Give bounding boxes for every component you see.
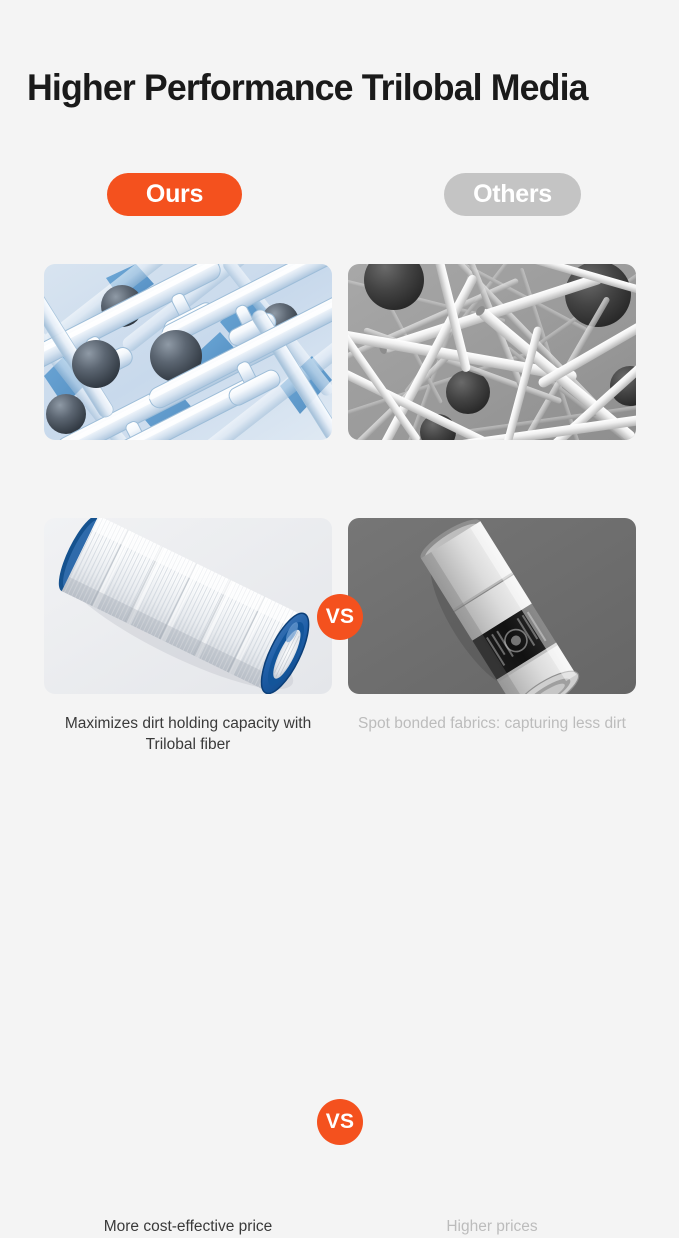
vs-badge-price: VS [317, 1099, 363, 1145]
vs-badge-label: VS [326, 1110, 355, 1134]
caption-others-media-structure: Spot bonded fabrics: capturing less dirt [342, 714, 642, 735]
vs-badge-label: VS [326, 605, 355, 629]
badge-others-label: Others [473, 180, 552, 209]
caption-ours-media-structure: Maximizes dirt holding capacity with Tri… [38, 714, 338, 756]
caption-ours-price: More cost-effective price [38, 1217, 338, 1238]
badge-ours-label: Ours [146, 180, 203, 209]
badge-ours: Ours [107, 173, 242, 216]
caption-others-price: Higher prices [342, 1217, 642, 1238]
badge-others: Others [444, 173, 581, 216]
image-spot-bonded-fabric [348, 264, 636, 440]
vs-badge-media-structure: VS [317, 594, 363, 640]
page-title: Higher Performance Trilobal Media [27, 68, 645, 109]
image-filter-cartridge-color [44, 518, 332, 694]
image-trilobal-fiber-media [44, 264, 332, 440]
image-filter-cartridge-grayscale [348, 518, 636, 694]
